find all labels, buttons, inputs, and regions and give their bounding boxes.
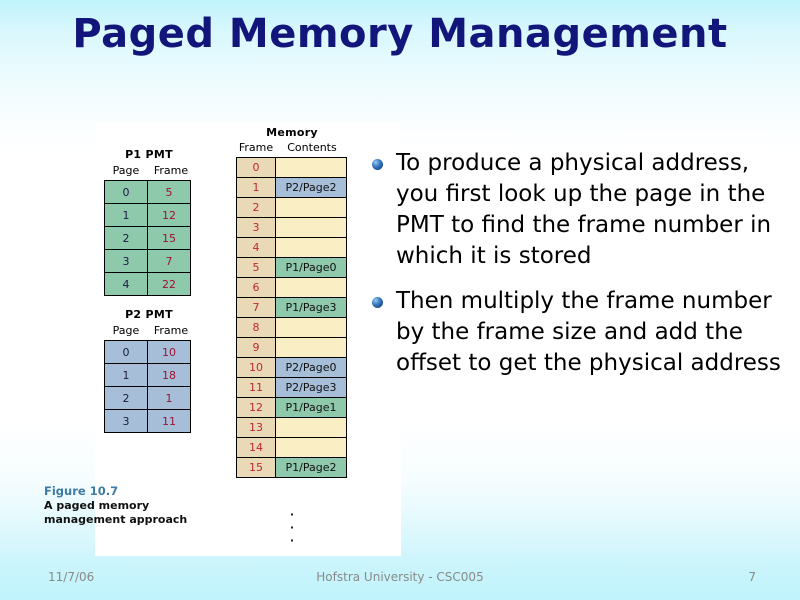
figure-caption: Figure 10.7 A paged memory management ap… — [44, 484, 194, 527]
memory-frame-number-cell: 12 — [237, 398, 276, 418]
memory-row: 6 — [237, 278, 347, 298]
p1-pmt-frame-cell: 12 — [148, 204, 191, 227]
bullet-sphere-icon — [372, 159, 383, 170]
memory-row: 9 — [237, 338, 347, 358]
memory-frame-number-cell: 8 — [237, 318, 276, 338]
memory-contents-cell — [276, 278, 347, 298]
memory-table-block: Memory Frame Contents 01P2/Page22345P1/P… — [236, 126, 348, 478]
p2-pmt-column-headers: Page Frame — [104, 323, 194, 339]
p2-pmt-col-page: Page — [104, 323, 148, 339]
memory-row: 11P2/Page3 — [237, 378, 347, 398]
p2-pmt-title: P2 PMT — [104, 308, 194, 322]
p1-pmt-col-frame: Frame — [148, 163, 194, 179]
p1-pmt-page-cell: 4 — [105, 273, 148, 296]
bullet-item: Then multiply the frame number by the fr… — [372, 286, 792, 379]
memory-row: 5P1/Page0 — [237, 258, 347, 278]
memory-row: 1P2/Page2 — [237, 178, 347, 198]
continuation-dot: · — [236, 521, 348, 534]
memory-row: 3 — [237, 218, 347, 238]
p1-pmt-frame-cell: 22 — [148, 273, 191, 296]
memory-row: 12P1/Page1 — [237, 398, 347, 418]
memory-row: 7P1/Page3 — [237, 298, 347, 318]
memory-frame-number-cell: 5 — [237, 258, 276, 278]
p2-pmt-page-cell: 1 — [105, 364, 148, 387]
memory-col-frame: Frame — [236, 140, 276, 156]
p1-pmt-frame-cell: 5 — [148, 181, 191, 204]
memory-continuation-dots: ··· — [236, 508, 348, 547]
p1-pmt-page-cell: 1 — [105, 204, 148, 227]
memory-frame-number-cell: 14 — [237, 438, 276, 458]
continuation-dot: · — [236, 508, 348, 521]
p1-pmt-row: 215 — [105, 227, 191, 250]
p1-pmt-col-page: Page — [104, 163, 148, 179]
memory-frame-number-cell: 0 — [237, 158, 276, 178]
p1-pmt-table-block: P1 PMT Page Frame 0511221537422 — [104, 148, 194, 296]
memory-row: 15P1/Page2 — [237, 458, 347, 478]
p2-pmt-frame-cell: 10 — [148, 341, 191, 364]
memory-contents-cell — [276, 158, 347, 178]
memory-row: 8 — [237, 318, 347, 338]
p1-pmt-row: 112 — [105, 204, 191, 227]
memory-frame-number-cell: 15 — [237, 458, 276, 478]
memory-contents-cell — [276, 338, 347, 358]
p1-pmt-frame-cell: 15 — [148, 227, 191, 250]
footer-course-label: Hofstra University - CSC005 — [0, 570, 800, 584]
p2-pmt-frame-cell: 11 — [148, 410, 191, 433]
memory-frame-number-cell: 6 — [237, 278, 276, 298]
memory-title: Memory — [236, 126, 348, 140]
memory-frame-number-cell: 4 — [237, 238, 276, 258]
memory-contents-cell: P2/Page0 — [276, 358, 347, 378]
slide-footer: 11/7/06 Hofstra University - CSC005 7 — [0, 568, 800, 592]
p2-pmt-row: 21 — [105, 387, 191, 410]
p2-pmt-page-cell: 3 — [105, 410, 148, 433]
p2-pmt-page-cell: 2 — [105, 387, 148, 410]
memory-row: 14 — [237, 438, 347, 458]
memory-row: 13 — [237, 418, 347, 438]
p1-pmt-row: 37 — [105, 250, 191, 273]
memory-table: 01P2/Page22345P1/Page067P1/Page38910P2/P… — [236, 157, 347, 478]
p1-pmt-page-cell: 3 — [105, 250, 148, 273]
memory-frame-number-cell: 7 — [237, 298, 276, 318]
memory-contents-cell — [276, 318, 347, 338]
memory-frame-number-cell: 1 — [237, 178, 276, 198]
memory-column-headers: Frame Contents — [236, 140, 348, 156]
bullet-text: To produce a physical address, you first… — [396, 148, 792, 272]
bullet-text: Then multiply the frame number by the fr… — [396, 286, 792, 379]
bullet-list: To produce a physical address, you first… — [372, 148, 792, 393]
memory-frame-number-cell: 2 — [237, 198, 276, 218]
memory-contents-cell — [276, 238, 347, 258]
memory-frame-number-cell: 10 — [237, 358, 276, 378]
memory-col-contents: Contents — [276, 140, 348, 156]
memory-contents-cell: P1/Page1 — [276, 398, 347, 418]
p1-pmt-page-cell: 2 — [105, 227, 148, 250]
p2-pmt-col-frame: Frame — [148, 323, 194, 339]
memory-frame-number-cell: 3 — [237, 218, 276, 238]
memory-contents-cell — [276, 438, 347, 458]
memory-contents-cell — [276, 198, 347, 218]
p2-pmt-frame-cell: 18 — [148, 364, 191, 387]
memory-contents-cell: P1/Page2 — [276, 458, 347, 478]
p1-pmt-frame-cell: 7 — [148, 250, 191, 273]
p1-pmt-title: P1 PMT — [104, 148, 194, 162]
figure-caption-number: Figure 10.7 — [44, 484, 194, 498]
memory-row: 10P2/Page0 — [237, 358, 347, 378]
memory-contents-cell: P2/Page2 — [276, 178, 347, 198]
p2-pmt-table-block: P2 PMT Page Frame 01011821311 — [104, 308, 194, 433]
footer-page-number: 7 — [748, 570, 756, 584]
memory-row: 4 — [237, 238, 347, 258]
p2-pmt-row: 118 — [105, 364, 191, 387]
p1-pmt-column-headers: Page Frame — [104, 163, 194, 179]
p2-pmt-table: 01011821311 — [104, 340, 191, 433]
p2-pmt-frame-cell: 1 — [148, 387, 191, 410]
memory-contents-cell: P1/Page3 — [276, 298, 347, 318]
p1-pmt-table: 0511221537422 — [104, 180, 191, 296]
memory-frame-number-cell: 11 — [237, 378, 276, 398]
continuation-dot: · — [236, 534, 348, 547]
slide-canvas: Paged Memory Management P1 PMT Page Fram… — [0, 0, 800, 600]
memory-contents-cell — [276, 418, 347, 438]
memory-row: 0 — [237, 158, 347, 178]
memory-contents-cell — [276, 218, 347, 238]
p1-pmt-row: 05 — [105, 181, 191, 204]
p1-pmt-page-cell: 0 — [105, 181, 148, 204]
memory-frame-number-cell: 13 — [237, 418, 276, 438]
bullet-sphere-icon — [372, 297, 383, 308]
p1-pmt-row: 422 — [105, 273, 191, 296]
memory-frame-number-cell: 9 — [237, 338, 276, 358]
p2-pmt-row: 010 — [105, 341, 191, 364]
memory-row: 2 — [237, 198, 347, 218]
memory-contents-cell: P2/Page3 — [276, 378, 347, 398]
page-title: Paged Memory Management — [60, 12, 740, 57]
bullet-item: To produce a physical address, you first… — [372, 148, 792, 272]
memory-contents-cell: P1/Page0 — [276, 258, 347, 278]
p2-pmt-row: 311 — [105, 410, 191, 433]
p2-pmt-page-cell: 0 — [105, 341, 148, 364]
figure-caption-description: A paged memory management approach — [44, 499, 194, 527]
